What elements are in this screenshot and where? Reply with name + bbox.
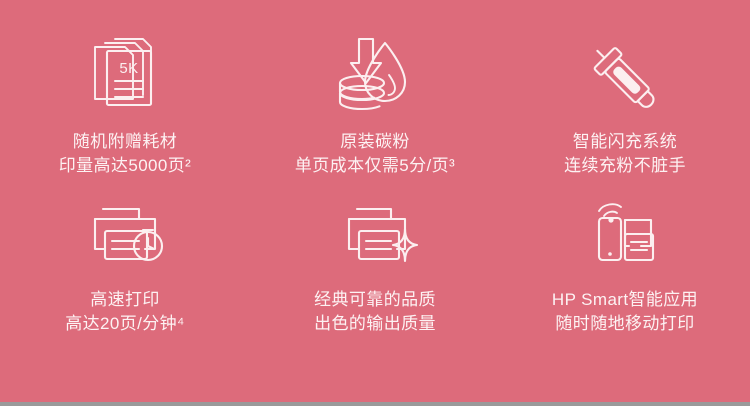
feature-cell-bundled-supplies: 5K 随机附赠耗材 印量高达5000页² (0, 36, 250, 178)
feature-cell-fast-printing: 高速打印 高达20页/分钟⁴ (0, 194, 250, 336)
feature-row-top: 5K 随机附赠耗材 印量高达5000页² (0, 0, 750, 178)
caption-line-1: 经典可靠的品质 (314, 288, 436, 312)
printer-sparkle-icon (329, 194, 421, 276)
caption-line-2: 印量高达5000页² (59, 154, 191, 178)
feature-row-bottom: 高速打印 高达20页/分钟⁴ 经典可靠的品质 出色的输出质量 (0, 178, 750, 336)
feature-cell-original-toner: 原装碳粉 单页成本仅需5分/页³ (250, 36, 500, 178)
feature-cell-smart-refill-system: 智能闪充系统 连续充粉不脏手 (500, 36, 750, 178)
caption-line-1: 随机附赠耗材 (59, 130, 191, 154)
caption-line-1: 原装碳粉 (295, 130, 455, 154)
caption-line-2: 随时随地移动打印 (552, 312, 698, 336)
stacked-pages-icon-label: 5K (119, 60, 138, 77)
feature-cell-reliable-quality: 经典可靠的品质 出色的输出质量 (250, 194, 500, 336)
caption-line-2: 高达20页/分钟⁴ (65, 312, 185, 336)
feature-caption-reliable-quality: 经典可靠的品质 出色的输出质量 (314, 288, 436, 336)
promo-banner: 5K 随机附赠耗材 印量高达5000页² (0, 0, 750, 402)
feature-caption-hp-smart-app: HP Smart智能应用 随时随地移动打印 (552, 288, 698, 336)
feature-caption-smart-refill-system: 智能闪充系统 连续充粉不脏手 (564, 130, 686, 178)
caption-line-2: 出色的输出质量 (314, 312, 436, 336)
caption-line-1: HP Smart智能应用 (552, 288, 698, 312)
caption-line-1: 智能闪充系统 (564, 130, 686, 154)
feature-cell-hp-smart-app: HP Smart智能应用 随时随地移动打印 (500, 194, 750, 336)
caption-line-1: 高速打印 (65, 288, 185, 312)
syringe-refill-icon (579, 36, 671, 118)
phone-wifi-printer-icon (579, 194, 671, 276)
toner-refill-drop-icon (329, 36, 421, 118)
feature-caption-fast-printing: 高速打印 高达20页/分钟⁴ (65, 288, 185, 336)
stacked-pages-icon: 5K (81, 36, 169, 118)
feature-caption-bundled-supplies: 随机附赠耗材 印量高达5000页² (59, 130, 191, 178)
printer-stopwatch-icon (79, 194, 171, 276)
bottom-strip (0, 402, 750, 406)
feature-caption-original-toner: 原装碳粉 单页成本仅需5分/页³ (295, 130, 455, 178)
caption-line-2: 单页成本仅需5分/页³ (295, 154, 455, 178)
caption-line-2: 连续充粉不脏手 (564, 154, 686, 178)
